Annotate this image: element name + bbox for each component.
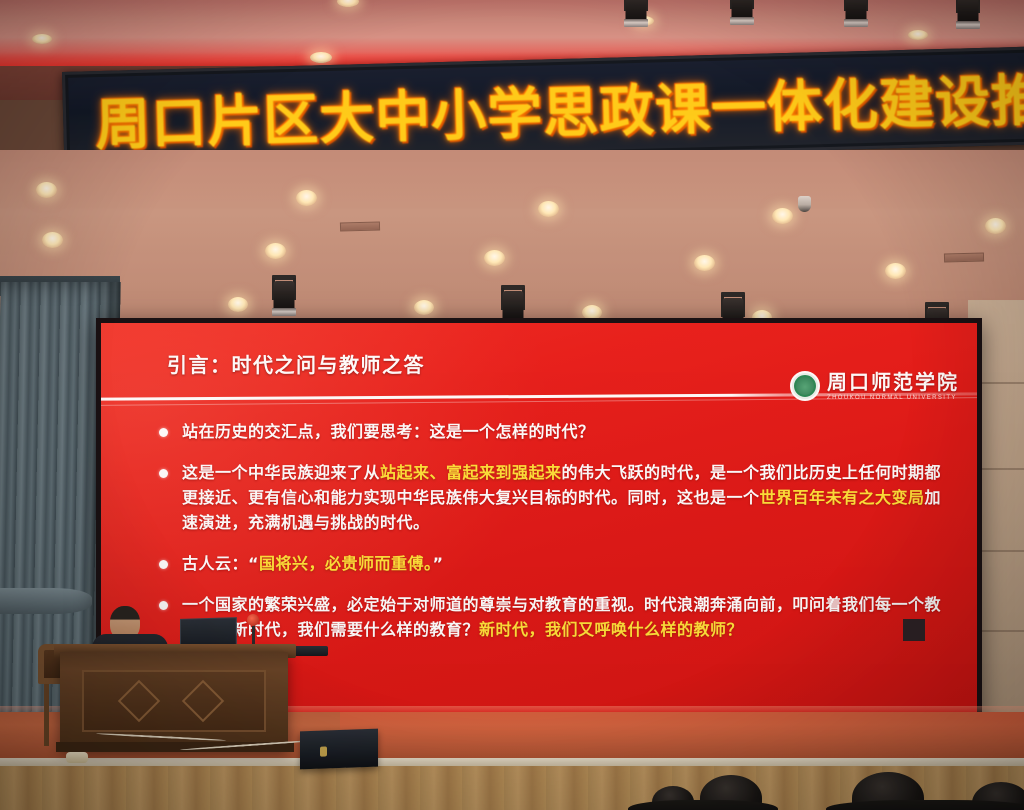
bullet-text: 站在历史的交汇点，我们要思考：这是一个怎样的时代？ [182, 419, 595, 444]
plain-text: 站在历史的交汇点，我们要思考：这是一个怎样的时代？ [182, 422, 595, 441]
slide-bullet-list: 站在历史的交汇点，我们要思考：这是一个怎样的时代？ 这是一个中华民族迎来了从站起… [159, 419, 947, 658]
wall-downlight [484, 250, 505, 266]
chair-leg [44, 684, 49, 746]
highlighted-text: 国将兴，必贵师而重傅。 [259, 554, 433, 573]
wall-downlight [985, 218, 1006, 234]
microphone-icon [247, 614, 259, 626]
bullet-text: 古人云：“国将兴，必贵师而重傅。” [182, 551, 444, 576]
ceiling-downlight [32, 34, 52, 44]
list-item: 一个国家的繁荣兴盛，必定始于对师道的尊崇与对教育的重视。时代浪潮奔涌向前，叩问着… [159, 592, 947, 642]
plain-text: ” [433, 554, 444, 573]
curtain-tieback [0, 588, 92, 614]
led-banner-text: 周口片区大中小学思政课一体化建设推进会 [68, 52, 1024, 161]
wall-downlight [538, 201, 559, 217]
bullet-dot-icon [159, 428, 168, 437]
cable-plug [66, 752, 88, 763]
university-logo: 周口师范学院 ZHOUKOU NORMAL UNIVERSITY [790, 371, 959, 401]
ceiling-downlight [908, 30, 928, 40]
audience-shoulders [628, 800, 778, 810]
plain-text: 古人云：“ [182, 554, 259, 573]
university-seal-icon [790, 371, 820, 401]
air-vent [944, 252, 984, 262]
list-item: 站在历史的交汇点，我们要思考：这是一个怎样的时代？ [159, 419, 947, 444]
wall-downlight [414, 300, 434, 315]
auditorium-photo: 周口片区大中小学思政课一体化建设推进会 [0, 0, 1024, 810]
podium-panel [82, 670, 266, 732]
podium [60, 652, 288, 750]
air-vent [340, 221, 380, 231]
wall-downlight [42, 232, 63, 248]
slide-header: 引言：时代之问与教师之答 周口师范学院 ZHOUKOU NORMAL UNIVE… [101, 345, 977, 397]
wall-downlight [694, 255, 715, 271]
list-item: 古人云：“国将兴，必贵师而重傅。” [159, 551, 947, 576]
highlighted-text: 新时代，我们又呼唤什么样的教师？ [479, 620, 743, 639]
bullet-dot-icon [159, 560, 168, 569]
wall-downlight [885, 263, 906, 279]
podium-diamond-ornament [118, 680, 160, 722]
bullet-dot-icon [159, 601, 168, 610]
bullet-text: 这是一个中华民族迎来了从站起来、富起来到强起来的伟大飞跃的时代，是一个我们比历史… [182, 460, 947, 535]
wall-downlight [772, 208, 793, 224]
highlighted-text: 站起来、富起来到强起来 [380, 463, 562, 482]
ceiling-downlight [310, 52, 332, 63]
screen-calibration-marker [903, 619, 925, 641]
audience-shoulders [826, 800, 1024, 810]
wall-downlight [36, 182, 57, 198]
university-name-en: ZHOUKOU NORMAL UNIVERSITY [827, 395, 959, 401]
wall-downlight [296, 190, 317, 206]
wall-downlight [265, 243, 286, 259]
wall-downlight [228, 297, 248, 312]
list-item: 这是一个中华民族迎来了从站起来、富起来到强起来的伟大飞跃的时代，是一个我们比历史… [159, 460, 947, 535]
highlighted-text: 世界百年未有之大变局 [760, 488, 925, 507]
bullet-text: 一个国家的繁荣兴盛，必定始于对师道的尊崇与对教育的重视。时代浪潮奔涌向前，叩问着… [182, 592, 947, 642]
podium-diamond-ornament [182, 680, 224, 722]
security-camera-icon [798, 196, 811, 212]
floor-monitor-speaker [300, 729, 378, 770]
bullet-dot-icon [159, 469, 168, 478]
plain-text: 这是一个中华民族迎来了从 [182, 463, 380, 482]
university-name-cn: 周口师范学院 [827, 372, 959, 392]
slide-title: 引言：时代之问与教师之答 [167, 349, 425, 378]
